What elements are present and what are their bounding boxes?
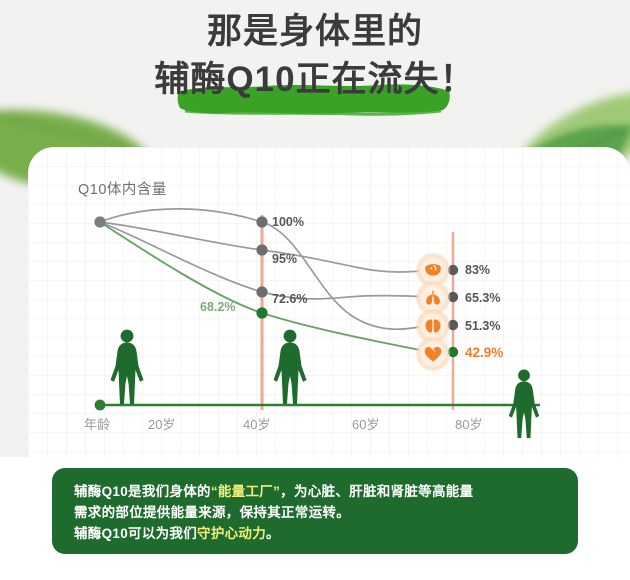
human-figure-40 — [270, 328, 310, 406]
label-40-heart: 68.2% — [200, 300, 235, 314]
info-line-3-highlight: 守护心动力 — [197, 526, 266, 541]
info-line-1-highlight: “能量工厂” — [211, 484, 280, 499]
info-line-3: 辅酶Q10可以为我们守护心动力。 — [74, 523, 556, 544]
info-line-1-text-b: ，为心脏、肝脏和肾脏等高能量 — [280, 484, 473, 499]
label-80-kidneys: 51.3% — [465, 319, 500, 333]
label-80-heart: 42.9% — [465, 345, 503, 360]
info-line-2: 需求的部位提供能量来源，保持其正常运转。 — [74, 502, 556, 523]
axis-label-60: 60岁 — [352, 414, 379, 433]
info-line-3-text-b: 。 — [266, 526, 280, 541]
page-header: 那是身体里的 辅酶Q10正在流失！ — [0, 0, 630, 146]
heart-icon — [418, 339, 448, 369]
info-line-1: 辅酶Q10是我们身体的“能量工厂”，为心脏、肝脏和肾脏等高能量 — [74, 481, 556, 502]
info-line-3-text-a: 辅酶Q10可以为我们 — [74, 526, 197, 541]
axis-label-40: 40岁 — [243, 414, 270, 433]
label-80-lungs: 65.3% — [465, 291, 500, 305]
axis-label-age: 年龄 — [84, 414, 110, 433]
label-40-kidneys: 100% — [272, 215, 304, 229]
kidneys-icon — [418, 311, 448, 341]
label-40-liver: 95% — [272, 252, 297, 266]
title-line-1: 那是身体里的 — [0, 14, 630, 49]
label-80-liver: 83% — [465, 263, 490, 277]
liver-icon — [418, 255, 448, 285]
human-figure-20 — [107, 328, 147, 406]
human-figure-80 — [505, 368, 543, 440]
label-40-lungs: 72.6% — [272, 292, 307, 306]
info-box: 辅酶Q10是我们身体的“能量工厂”，为心脏、肝脏和肾脏等高能量 需求的部位提供能… — [52, 468, 578, 554]
title-line-2: 辅酶Q10正在流失！ — [0, 62, 630, 97]
lungs-icon — [418, 283, 448, 313]
chart-title: Q10体内含量 — [78, 178, 167, 199]
info-line-1-text-a: 辅酶Q10是我们身体的 — [74, 484, 211, 499]
axis-label-80: 80岁 — [455, 414, 482, 433]
axis-label-20: 20岁 — [148, 414, 175, 433]
